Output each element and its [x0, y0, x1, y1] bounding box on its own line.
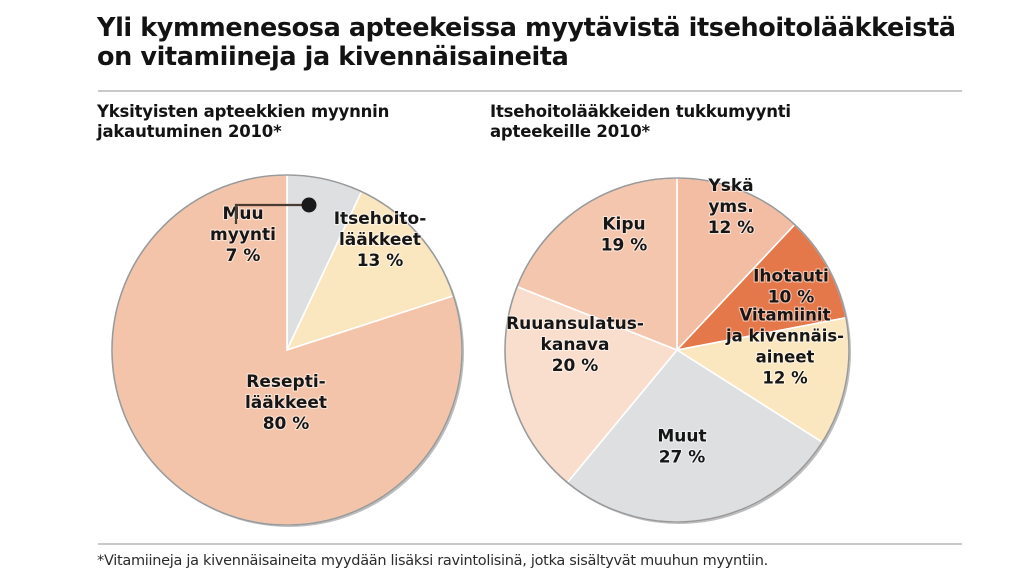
charts-area: Muumyynti7 %Itsehoito-lääkkeet13 %Resept… [0, 0, 1024, 576]
left-chart-subtitle: Yksityisten apteekkien myynnin jakautumi… [97, 102, 467, 142]
pie-slice-label: Yskäyms.12 % [707, 176, 754, 238]
pie-charts-svg: Muumyynti7 %Itsehoito-lääkkeet13 %Resept… [0, 0, 1024, 576]
footer-divider [98, 543, 962, 545]
pie-outline [112, 175, 462, 525]
infographic-page: Yli kymmenesosa apteekeissa myytävistä i… [0, 0, 1024, 576]
pie-shadow [114, 177, 464, 527]
pie-slice-label: Muumyynti7 % [210, 204, 276, 266]
pie-slice-label: Muut27 % [657, 427, 706, 468]
pie-chart-otc-wholesale: Yskäyms.12 %Ihotauti10 %Vitamiinitja kiv… [505, 176, 851, 524]
leader-line-muu-myynti [236, 205, 305, 224]
pie-slice[interactable] [505, 287, 677, 483]
pie-slice-label: Ruuansulatus-kanava20 % [506, 314, 644, 376]
pie-outline [505, 178, 849, 522]
header-divider [98, 90, 962, 92]
pie-slice[interactable] [677, 178, 795, 350]
footnote: *Vitamiineja ja kivennäisaineita myydään… [97, 552, 997, 570]
pie-slice-label: Ihotauti10 % [753, 267, 829, 308]
page-title: Yli kymmenesosa apteekeissa myytävistä i… [97, 14, 977, 72]
pie-slice-label: Resepti-lääkkeet80 % [245, 372, 327, 434]
pie-slice[interactable] [677, 225, 846, 350]
pie-shadow [507, 180, 851, 524]
pie-slice[interactable] [287, 175, 362, 350]
pie-chart-private-pharmacy-sales: Muumyynti7 %Itsehoito-lääkkeet13 %Resept… [112, 175, 464, 527]
pie-slice-label: Vitamiinitja kivennäis-aineet12 % [725, 306, 844, 388]
pie-slice[interactable] [567, 350, 822, 522]
pie-slice-label: Itsehoito-lääkkeet13 % [334, 209, 427, 271]
right-chart-subtitle: Itsehoitolääkkeiden tukkumyynti apteekei… [490, 102, 890, 142]
pie-slice[interactable] [677, 318, 849, 442]
pie-slice[interactable] [112, 175, 462, 525]
leader-lines [236, 198, 317, 225]
pie-slice[interactable] [287, 192, 453, 350]
pie-slice[interactable] [517, 178, 677, 350]
pie-slice-label: Kipu19 % [601, 215, 648, 256]
leader-dot-muu-myynti [302, 198, 317, 213]
